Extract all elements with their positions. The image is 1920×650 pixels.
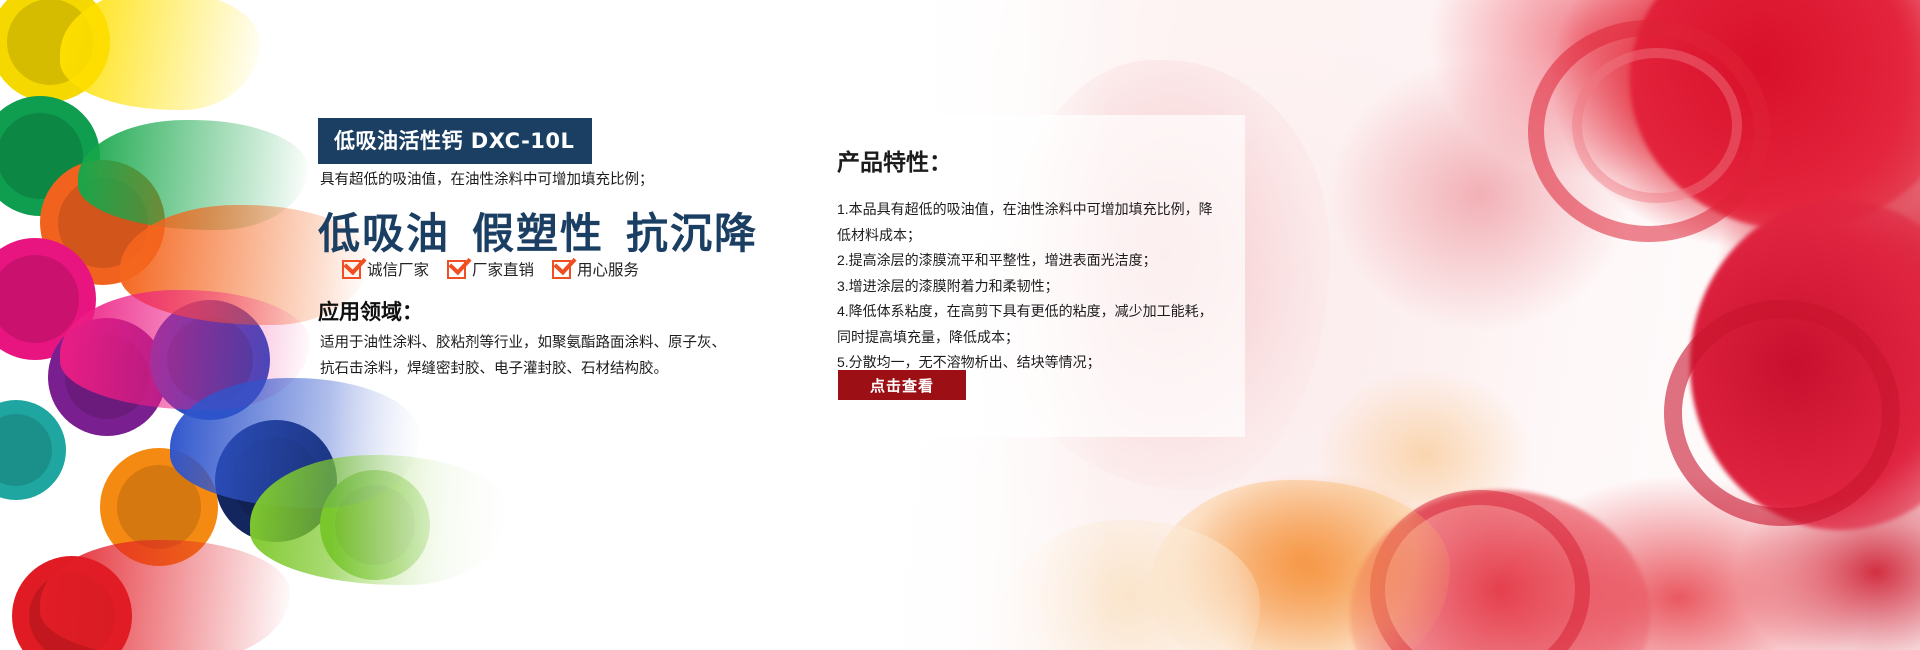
- application-heading: 应用领域：: [318, 296, 423, 326]
- paint-smear-yellow: [60, 0, 260, 110]
- list-item: 2.提高涂层的漆膜流平和平整性，增进表面光洁度；: [837, 248, 1219, 274]
- feature-item-2: 厂家直销: [447, 258, 534, 280]
- paint-can-teal: [0, 400, 66, 500]
- left-content-column: 低吸油活性钙 DXC-10L 具有超低的吸油值，在油性涂料中可增加填充比例； 低…: [318, 0, 788, 650]
- feature-label-1: 诚信厂家: [367, 258, 429, 280]
- paint-ring-top-inner: [1572, 48, 1742, 203]
- product-features-panel: 产品特性： 1.本品具有超低的吸油值，在油性涂料中可增加填充比例，降低材料成本；…: [805, 115, 1245, 437]
- headline-word-1: 低吸油: [318, 209, 450, 258]
- feature-item-1: 诚信厂家: [342, 258, 429, 280]
- panel-feature-list: 1.本品具有超低的吸油值，在油性涂料中可增加填充比例，降低材料成本； 2.提高涂…: [837, 197, 1219, 376]
- headline-word-3: 抗沉降: [626, 209, 758, 258]
- headline-word-2: 假塑性: [472, 209, 604, 258]
- view-details-button[interactable]: 点击查看: [838, 370, 966, 400]
- paint-smear-red: [40, 540, 290, 650]
- headline-keywords: 低吸油假塑性抗沉降: [318, 200, 758, 261]
- list-item: 3.增进涂层的漆膜附着力和柔韧性；: [837, 274, 1219, 300]
- feature-label-3: 用心服务: [577, 258, 639, 280]
- feature-item-3: 用心服务: [552, 258, 639, 280]
- checkbox-checked-icon: [447, 260, 466, 279]
- feature-badge-row: 诚信厂家 厂家直销 用心服务: [342, 258, 639, 280]
- application-description: 适用于油性涂料、胶粘剂等行业，如聚氨酯路面涂料、原子灰、抗石击涂料，焊缝密封胶、…: [320, 330, 740, 382]
- product-banner: 低吸油活性钙 DXC-10L 具有超低的吸油值，在油性涂料中可增加填充比例； 低…: [0, 0, 1920, 650]
- list-item: 1.本品具有超低的吸油值，在油性涂料中可增加填充比例，降低材料成本；: [837, 197, 1219, 248]
- product-title-badge: 低吸油活性钙 DXC-10L: [318, 118, 592, 164]
- list-item: 4.降低体系粘度，在高剪下具有更低的粘度，减少加工能耗，同时提高填充量，降低成本…: [837, 299, 1219, 350]
- product-subtitle: 具有超低的吸油值，在油性涂料中可增加填充比例；: [320, 168, 654, 189]
- feature-label-2: 厂家直销: [472, 258, 534, 280]
- checkbox-checked-icon: [342, 260, 361, 279]
- paint-ring-right: [1664, 300, 1900, 526]
- checkbox-checked-icon: [552, 260, 571, 279]
- panel-heading: 产品特性：: [837, 143, 952, 177]
